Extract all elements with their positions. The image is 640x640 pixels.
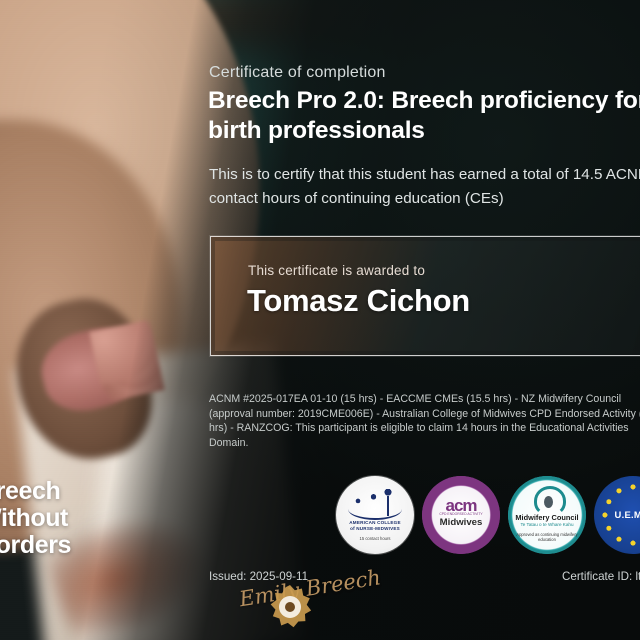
certificate-title: Breech Pro 2.0: Breech proficiency for b… bbox=[208, 86, 640, 146]
certificate-subtitle: This is to certify that this student has… bbox=[209, 163, 640, 211]
gold-seal-icon bbox=[268, 585, 312, 629]
recipient-name: Tomasz Cichon bbox=[247, 283, 470, 319]
certificate-canvas: Certificate of completion Breech Pro 2.0… bbox=[0, 0, 640, 640]
acnm-title-line2: of NURSE-MIDWIVES bbox=[339, 526, 411, 532]
acnm-arc-icon bbox=[348, 498, 402, 520]
midwifery-council-maori: Te Tatau o te Whare Kahu bbox=[510, 522, 584, 527]
seal-core bbox=[285, 602, 295, 612]
logo-line-1: Breech bbox=[0, 478, 128, 505]
acnm-hours: 15 contact hours bbox=[339, 536, 411, 541]
uems-label: U.E.M.S bbox=[598, 509, 640, 520]
acnm-title: AMERICAN COLLEGE of NURSE-MIDWIVES bbox=[339, 520, 411, 532]
badge-acm-midwives: acm CPD ENDORSED ACTIVITY Midwives bbox=[422, 476, 500, 554]
midwifery-council-dot-icon bbox=[544, 496, 553, 508]
logo-line-2: Without bbox=[0, 505, 128, 532]
logo-line-3: Borders bbox=[0, 532, 128, 559]
acm-word: Midwives bbox=[429, 517, 493, 528]
award-label: This certificate is awarded to bbox=[248, 263, 425, 278]
breech-without-borders-logo: Breech Without Borders bbox=[0, 478, 128, 559]
acnm-stem-icon bbox=[387, 496, 389, 516]
certificate-content: Certificate of completion Breech Pro 2.0… bbox=[0, 0, 640, 640]
acm-micro-text: CPD ENDORSED ACTIVITY bbox=[432, 512, 490, 516]
certificate-id: Certificate ID: ltu bbox=[562, 570, 640, 583]
midwifery-council-title: Midwifery Council bbox=[510, 513, 584, 522]
badge-acnm: AMERICAN COLLEGE of NURSE-MIDWIVES 15 co… bbox=[336, 476, 414, 554]
badge-uems: U.E.M.S bbox=[594, 476, 640, 554]
midwifery-council-approval: Approved as continuing midwifery educati… bbox=[516, 532, 578, 543]
accreditation-fineprint: ACNM #2025-017EA 01-10 (15 hrs) - EACCME… bbox=[209, 392, 640, 450]
badge-midwifery-council: Midwifery Council Te Tatau o te Whare Ka… bbox=[508, 476, 586, 554]
certificate-eyebrow: Certificate of completion bbox=[209, 64, 386, 82]
